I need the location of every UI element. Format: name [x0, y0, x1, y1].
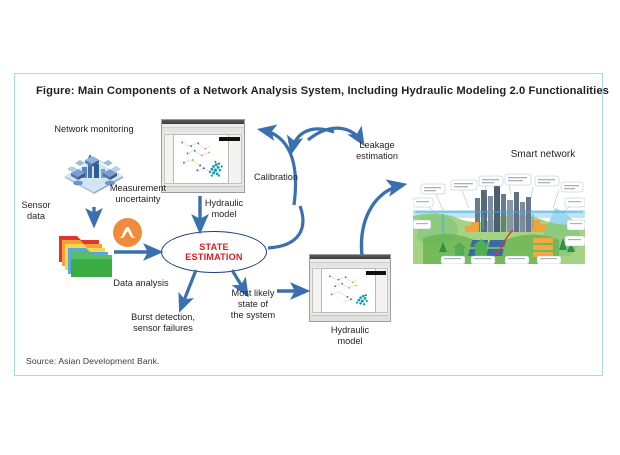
window-body	[163, 132, 243, 187]
label-hydraulic-model-bottom-line2: model	[320, 336, 380, 347]
label-hydraulic-model-top-line2: model	[194, 209, 254, 220]
label-sensor-data-line2: data	[14, 211, 58, 222]
window-body	[311, 267, 389, 316]
label-network-monitoring: Network monitoring	[34, 124, 154, 135]
label-most-likely-line1: Most likely	[218, 288, 288, 299]
label-smart-network: Smart network	[495, 149, 591, 160]
label-burst-detection-line1: Burst detection,	[116, 312, 210, 323]
figure-source: Source: Asian Development Bank.	[26, 356, 160, 366]
hydraulic-model-screenshot-bottom	[309, 254, 391, 322]
network-map-canvas	[321, 268, 376, 313]
label-leakage-estimation-line2: estimation	[341, 151, 413, 162]
window-right-panel	[375, 268, 389, 313]
state-estimation-line1: STATE	[199, 242, 228, 252]
state-estimation-line2: ESTIMATION	[185, 252, 242, 262]
label-measurement-uncertainty-line1: Measurement	[96, 183, 180, 194]
label-measurement-uncertainty-line2: uncertainty	[96, 194, 180, 205]
label-data-analysis: Data analysis	[104, 278, 178, 289]
figure-canvas: Figure: Main Components of a Network Ana…	[0, 0, 620, 455]
label-hydraulic-model-top-line1: Hydraulic	[194, 198, 254, 209]
map-legend	[219, 137, 240, 141]
label-sensor-data-line1: Sensor	[14, 200, 58, 211]
smart-network-illustration	[413, 164, 585, 264]
label-burst-detection-line2: sensor failures	[116, 323, 210, 334]
figure-title: Figure: Main Components of a Network Ana…	[36, 85, 596, 97]
label-most-likely-line2: state of	[218, 299, 288, 310]
state-estimation-node: STATE ESTIMATION	[161, 231, 267, 273]
map-legend	[366, 271, 386, 274]
label-leakage-estimation-line1: Leakage	[344, 140, 410, 151]
label-calibration: Calibration	[241, 172, 311, 183]
sensor-data-folders-icon	[55, 222, 117, 278]
label-most-likely-line3: the system	[218, 310, 288, 321]
measurement-uncertainty-icon	[113, 218, 142, 247]
label-hydraulic-model-bottom-line1: Hydraulic	[320, 325, 380, 336]
network-map-canvas	[173, 134, 229, 184]
hydraulic-model-screenshot-top	[161, 119, 245, 193]
window-status-bar	[311, 315, 389, 321]
